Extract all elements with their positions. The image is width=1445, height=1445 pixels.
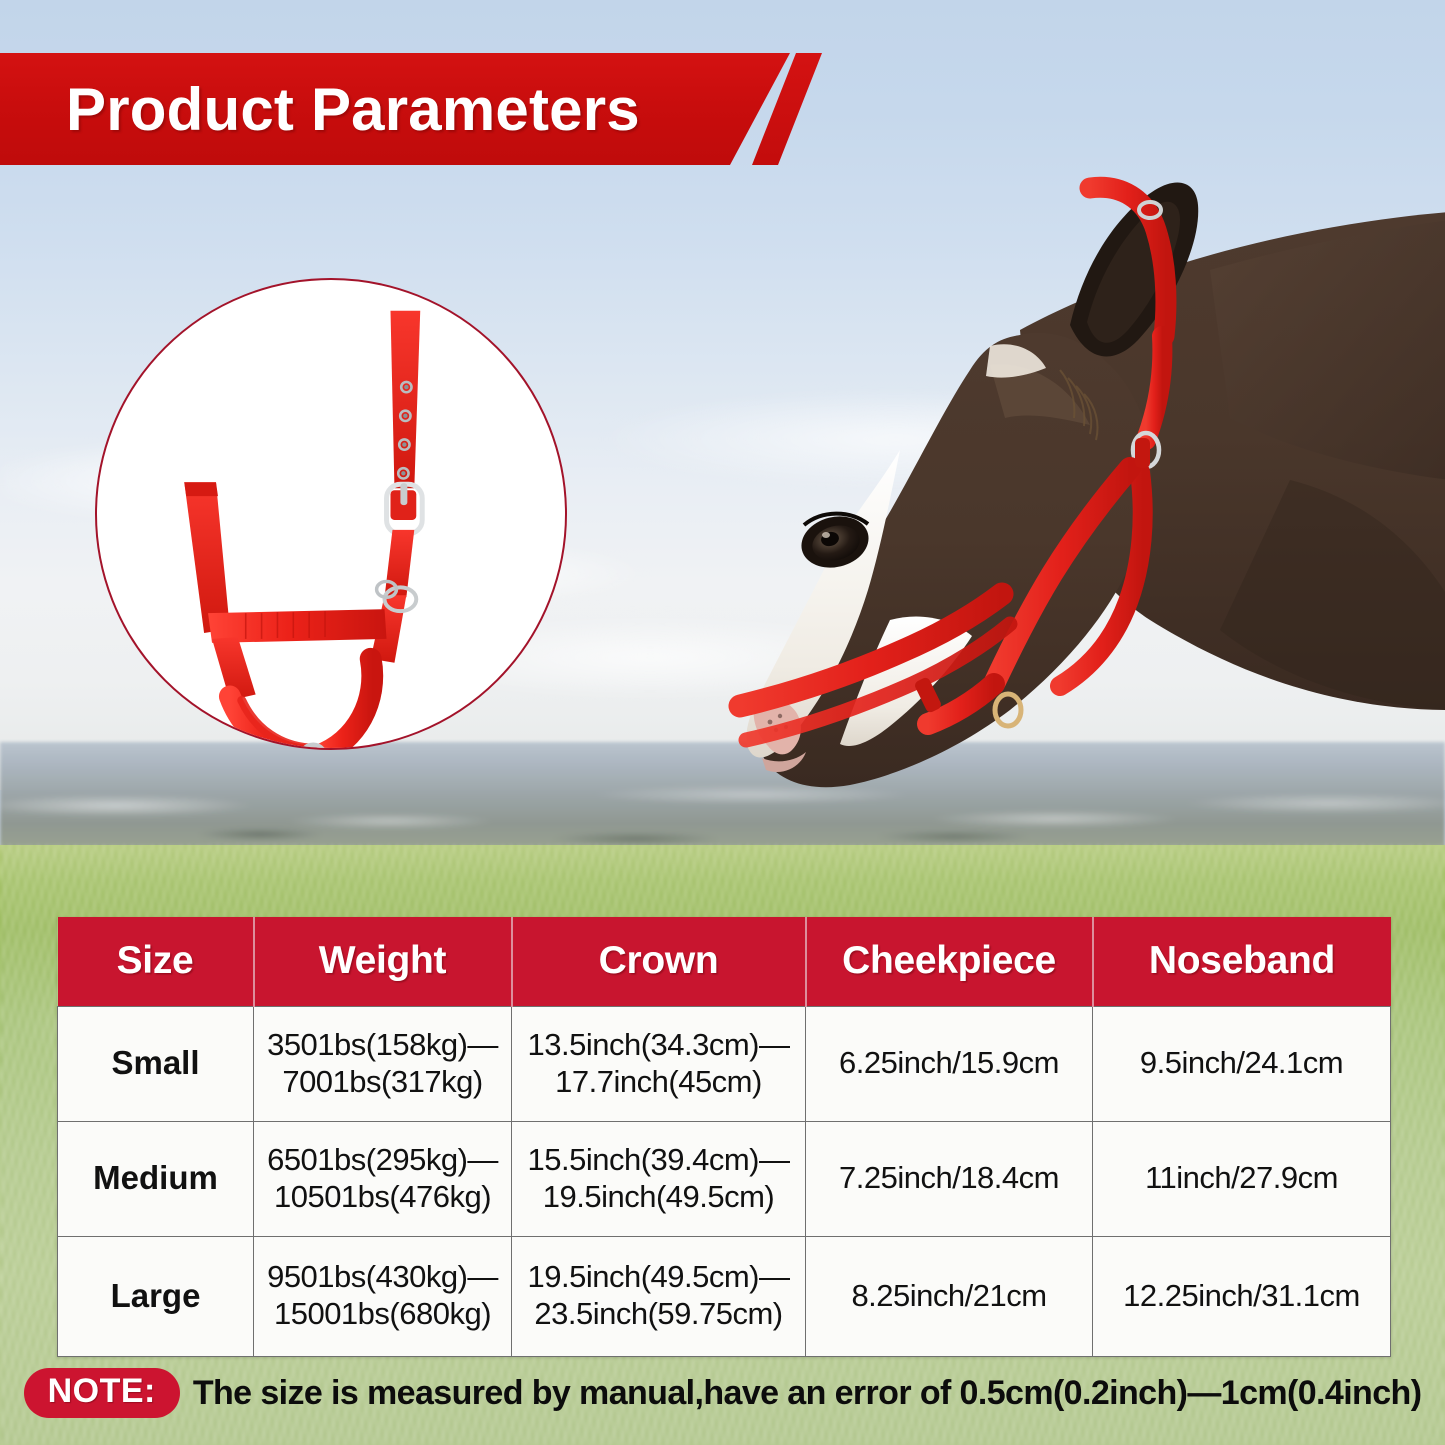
column-header-crown: Crown bbox=[512, 917, 806, 1006]
product-parameters-infographic: Product Parameters bbox=[0, 0, 1445, 1445]
header-banner: Product Parameters bbox=[0, 53, 810, 165]
crown-line-2: 19.5inch(49.5cm) bbox=[543, 1179, 775, 1214]
size-chart-table: Size Weight Crown Cheekpiece Noseband Sm… bbox=[57, 917, 1391, 1357]
column-header-cheekpiece: Cheekpiece bbox=[806, 917, 1093, 1006]
cell-noseband-small: 9.5inch/24.1cm bbox=[1093, 1006, 1391, 1121]
cell-noseband-large: 12.25inch/31.1cm bbox=[1093, 1236, 1391, 1356]
cell-cheekpiece-medium: 7.25inch/18.4cm bbox=[806, 1121, 1093, 1236]
note-text: The size is measured by manual,have an e… bbox=[193, 1374, 1422, 1413]
cell-cheekpiece-large: 8.25inch/21cm bbox=[806, 1236, 1093, 1356]
note-footer: NOTE: The size is measured by manual,hav… bbox=[0, 1368, 1445, 1418]
cell-size-medium: Medium bbox=[58, 1121, 254, 1236]
table-row: Small 3501bs(158kg)— 7001bs(317kg) 13.5i… bbox=[58, 1006, 1391, 1121]
cell-weight-large: 9501bs(430kg)— 15001bs(680kg) bbox=[254, 1236, 512, 1356]
cow-photo bbox=[590, 150, 1445, 850]
weight-line-1: 3501bs(158kg)— bbox=[267, 1027, 498, 1062]
weight-line-2: 10501bs(476kg) bbox=[274, 1179, 491, 1214]
cell-crown-small: 13.5inch(34.3cm)— 17.7inch(45cm) bbox=[512, 1006, 806, 1121]
cell-size-small: Small bbox=[58, 1006, 254, 1121]
weight-line-2: 7001bs(317kg) bbox=[282, 1064, 482, 1099]
cell-crown-large: 19.5inch(49.5cm)— 23.5inch(59.75cm) bbox=[512, 1236, 806, 1356]
crown-line-1: 15.5inch(39.4cm)— bbox=[527, 1142, 789, 1177]
cell-weight-small: 3501bs(158kg)— 7001bs(317kg) bbox=[254, 1006, 512, 1121]
weight-line-1: 9501bs(430kg)— bbox=[267, 1259, 498, 1294]
weight-line-2: 15001bs(680kg) bbox=[274, 1296, 491, 1331]
page-title: Product Parameters bbox=[66, 53, 640, 165]
crown-line-1: 19.5inch(49.5cm)— bbox=[527, 1259, 789, 1294]
column-header-weight: Weight bbox=[254, 917, 512, 1006]
crown-line-1: 13.5inch(34.3cm)— bbox=[527, 1027, 789, 1062]
table-row: Large 9501bs(430kg)— 15001bs(680kg) 19.5… bbox=[58, 1236, 1391, 1356]
table-header-row: Size Weight Crown Cheekpiece Noseband bbox=[58, 917, 1391, 1006]
product-image-inset bbox=[95, 278, 567, 750]
crown-line-2: 17.7inch(45cm) bbox=[555, 1064, 762, 1099]
cell-noseband-medium: 11inch/27.9cm bbox=[1093, 1121, 1391, 1236]
cattle-halter-icon bbox=[97, 280, 565, 748]
cell-size-large: Large bbox=[58, 1236, 254, 1356]
crown-line-2: 23.5inch(59.75cm) bbox=[534, 1296, 782, 1331]
column-header-size: Size bbox=[58, 917, 254, 1006]
note-badge: NOTE: bbox=[24, 1368, 180, 1418]
cell-crown-medium: 15.5inch(39.4cm)— 19.5inch(49.5cm) bbox=[512, 1121, 806, 1236]
cell-weight-medium: 6501bs(295kg)— 10501bs(476kg) bbox=[254, 1121, 512, 1236]
table-row: Medium 6501bs(295kg)— 10501bs(476kg) 15.… bbox=[58, 1121, 1391, 1236]
column-header-noseband: Noseband bbox=[1093, 917, 1391, 1006]
weight-line-1: 6501bs(295kg)— bbox=[267, 1142, 498, 1177]
cell-cheekpiece-small: 6.25inch/15.9cm bbox=[806, 1006, 1093, 1121]
